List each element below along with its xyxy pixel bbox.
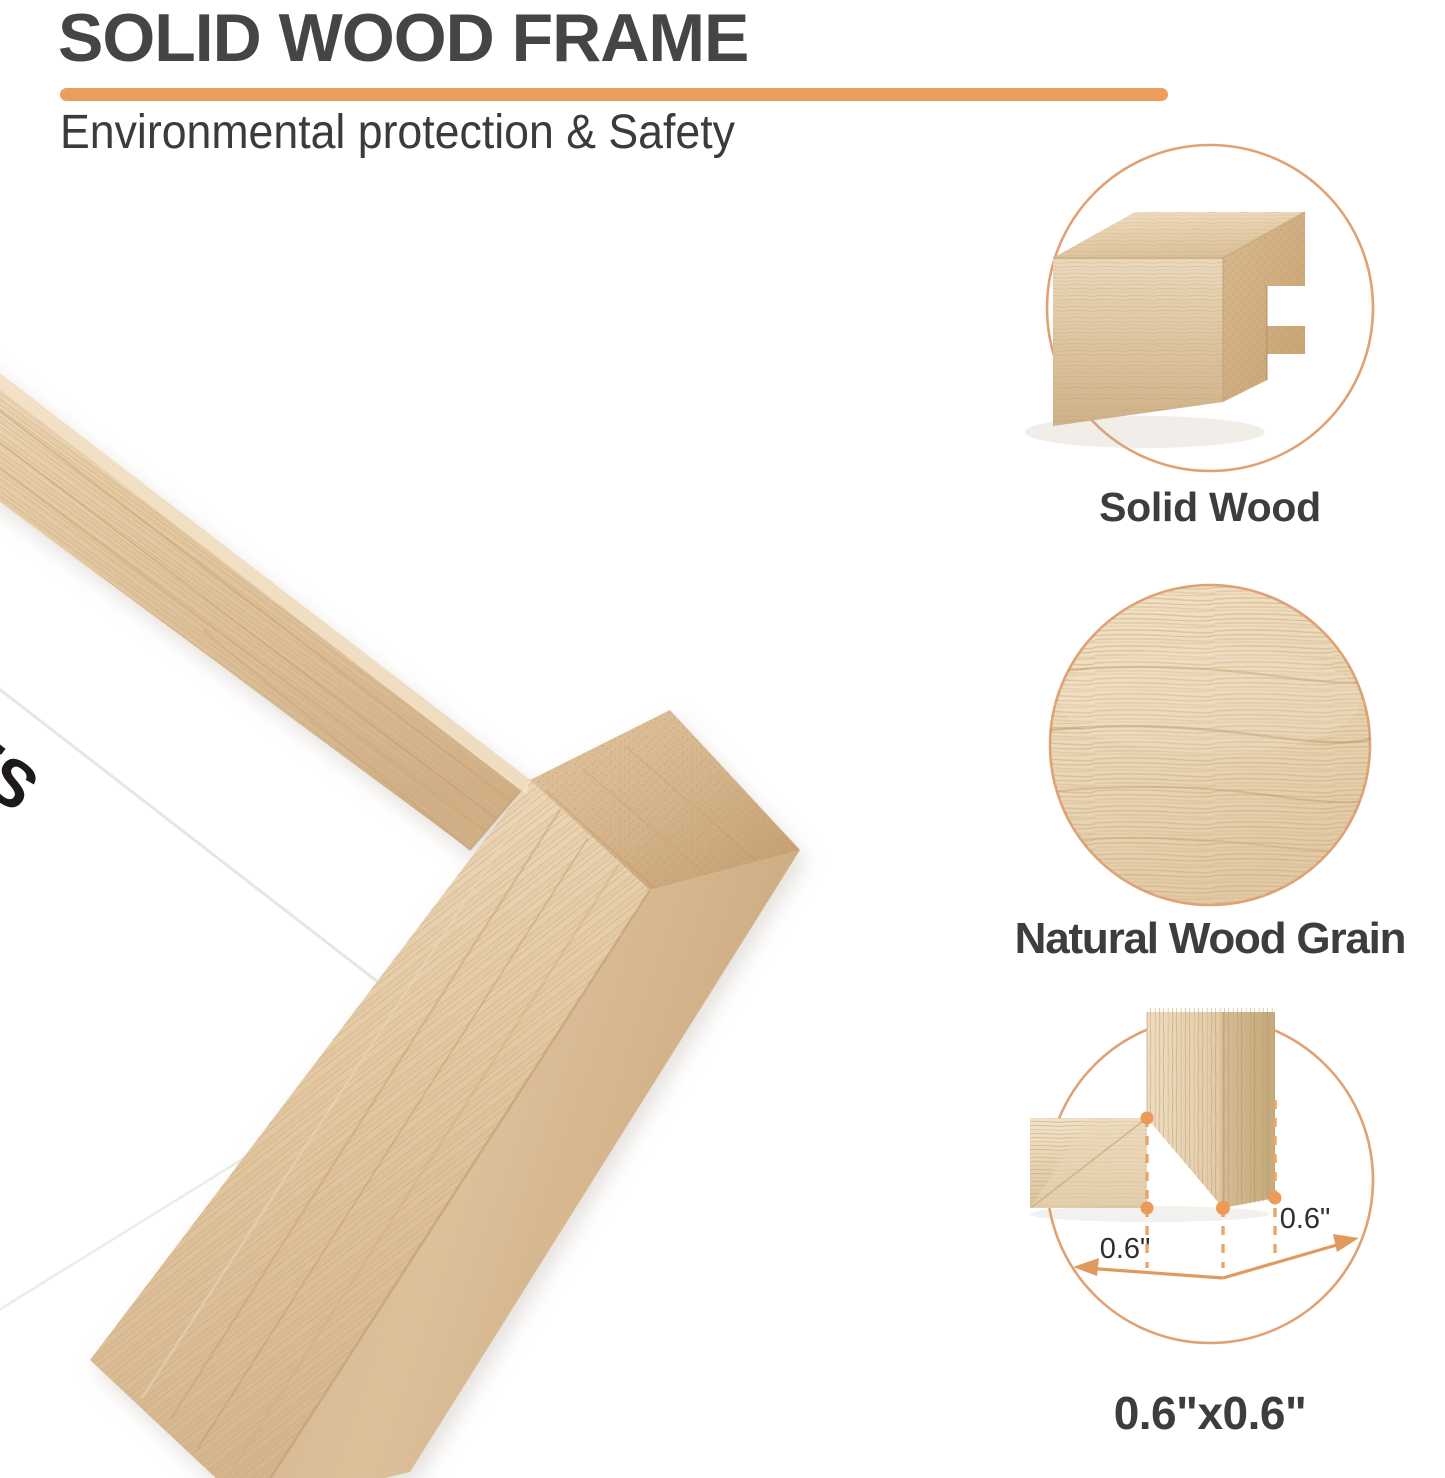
- wood-profile-block-icon: [975, 140, 1445, 480]
- feature-callouts: Solid Wood: [975, 140, 1445, 1478]
- callout-natural-wood-grain: Natural Wood Grain: [975, 580, 1445, 1000]
- wood-grain-circle: Natural Wood Grain: [975, 580, 1445, 915]
- callout-label-natural-wood-grain: Natural Wood Grain: [975, 914, 1445, 964]
- infographic-canvas: SOLID WOOD FRAME Environmental protectio…: [0, 0, 1445, 1478]
- dimension-label-right: 0.6": [1280, 1203, 1331, 1235]
- callout-label-solid-wood: Solid Wood: [975, 484, 1445, 531]
- dimensions-circle: 0.6" 0.6" 0.6"x0.6": [975, 1000, 1445, 1385]
- frame-corner-dimensions-icon: 0.6" 0.6": [975, 1000, 1445, 1380]
- title-underline-rule: [60, 88, 1168, 101]
- page-title: SOLID WOOD FRAME: [58, 0, 748, 78]
- solid-wood-circle: Solid Wood: [975, 140, 1445, 485]
- wood-grain-swatch-icon: [975, 580, 1445, 910]
- wood-frame-photo: ES: [0, 150, 970, 1478]
- dimension-label-left: 0.6": [1100, 1233, 1151, 1265]
- frame-corner-illustration: ES: [0, 150, 970, 1478]
- callout-dimensions: 0.6" 0.6" 0.6"x0.6": [975, 1000, 1445, 1478]
- callout-label-dimensions: 0.6"x0.6": [975, 1386, 1445, 1440]
- header: SOLID WOOD FRAME Environmental protectio…: [58, 0, 1178, 162]
- callout-solid-wood: Solid Wood: [975, 140, 1445, 560]
